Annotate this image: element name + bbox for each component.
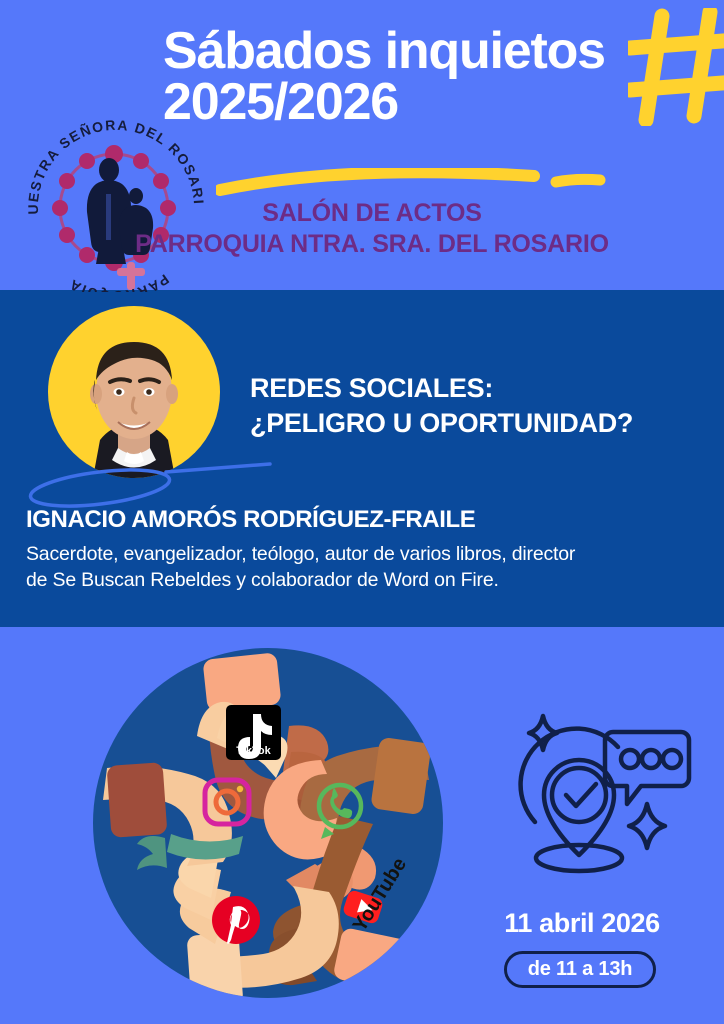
poster-root: Sábados inquietos 2025/2026 (0, 0, 724, 1024)
venue-block: SALÓN DE ACTOS PARROQUIA NTRA. SRA. DEL … (62, 198, 682, 260)
title-line-2: 2025/2026 (163, 77, 633, 128)
event-icon-cluster (495, 700, 695, 900)
sparkle-icon (529, 716, 557, 750)
chat-bubble-dots-icon (605, 732, 689, 804)
event-date: 11 abril 2026 (460, 908, 704, 939)
svg-text:TikTok: TikTok (236, 745, 271, 757)
speaker-bio-line-1: Sacerdote, evangelizador, teólogo, autor… (26, 542, 666, 568)
sparkle-icon (629, 804, 665, 848)
talk-title-line-2: ¿PELIGRO U OPORTUNIDAD? (250, 406, 700, 441)
talk-title: REDES SOCIALES: ¿PELIGRO U OPORTUNIDAD? (250, 371, 700, 441)
pinterest-icon (212, 896, 260, 944)
speaker-name: IGNACIO AMORÓS RODRÍGUEZ-FRAILE (26, 506, 686, 534)
united-hands-social-media-illustration: TikTok YouTube (93, 648, 443, 998)
speaker-bio-line-2: de Se Buscan Rebeldes y colaborador de W… (26, 568, 666, 594)
yellow-brushstroke-underline (216, 168, 606, 196)
tiktok-icon: TikTok (226, 705, 281, 760)
location-pin-check-icon (536, 760, 622, 871)
page-title: Sábados inquietos 2025/2026 (163, 26, 633, 128)
venue-line-2: PARROQUIA NTRA. SRA. DEL ROSARIO (62, 229, 682, 260)
title-line-1: Sábados inquietos (163, 26, 633, 77)
event-time-badge: de 11 a 13h (504, 951, 656, 988)
talk-title-line-1: REDES SOCIALES: (250, 371, 700, 406)
venue-line-1: SALÓN DE ACTOS (62, 198, 682, 229)
blue-swoosh-decoration (26, 452, 272, 510)
speaker-bio: Sacerdote, evangelizador, teólogo, autor… (26, 542, 666, 594)
